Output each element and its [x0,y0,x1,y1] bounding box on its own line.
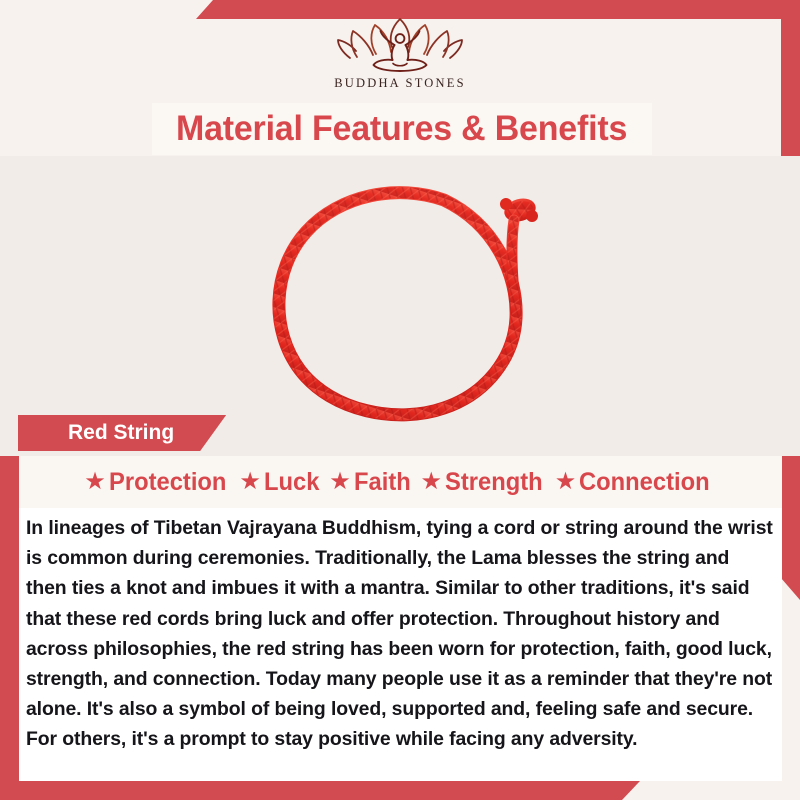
star-icon: ★ [84,470,106,494]
infographic-poster: BUDDHA STONES Material Features & Benefi… [0,0,800,800]
benefit-label: Protection [109,468,226,497]
decorative-bottom-band [0,781,640,800]
product-label-banner: Red String [18,415,226,451]
benefit-label: Luck [264,468,319,497]
benefits-row: ★ Protection ★ Luck ★ Faith ★ Strength ★… [19,456,782,508]
benefit-label: Connection [579,468,710,497]
star-icon: ★ [329,470,351,494]
product-label: Red String [68,421,174,445]
benefit-item-luck: ★ Luck [239,468,322,497]
benefit-item-connection: ★ Connection [555,468,717,497]
brand-name: BUDDHA STONES [334,76,466,91]
benefit-item-strength: ★ Strength [420,468,547,497]
lotus-meditation-figure-icon [332,14,468,74]
description-text: In lineages of Tibetan Vajrayana Buddhis… [26,513,774,755]
description-panel: In lineages of Tibetan Vajrayana Buddhis… [19,508,782,781]
star-icon: ★ [239,470,261,494]
star-icon: ★ [420,470,442,494]
product-image-area [0,156,800,456]
benefit-item-protection: ★ Protection [84,468,232,497]
benefit-label: Strength [445,468,543,497]
red-braided-bracelet-icon [248,162,588,442]
benefit-item-faith: ★ Faith [329,468,413,497]
brand-logo: BUDDHA STONES [0,14,800,100]
star-icon: ★ [555,470,577,494]
page-title: Material Features & Benefits [176,109,627,149]
benefit-label: Faith [354,468,411,497]
title-banner: Material Features & Benefits [152,103,652,155]
